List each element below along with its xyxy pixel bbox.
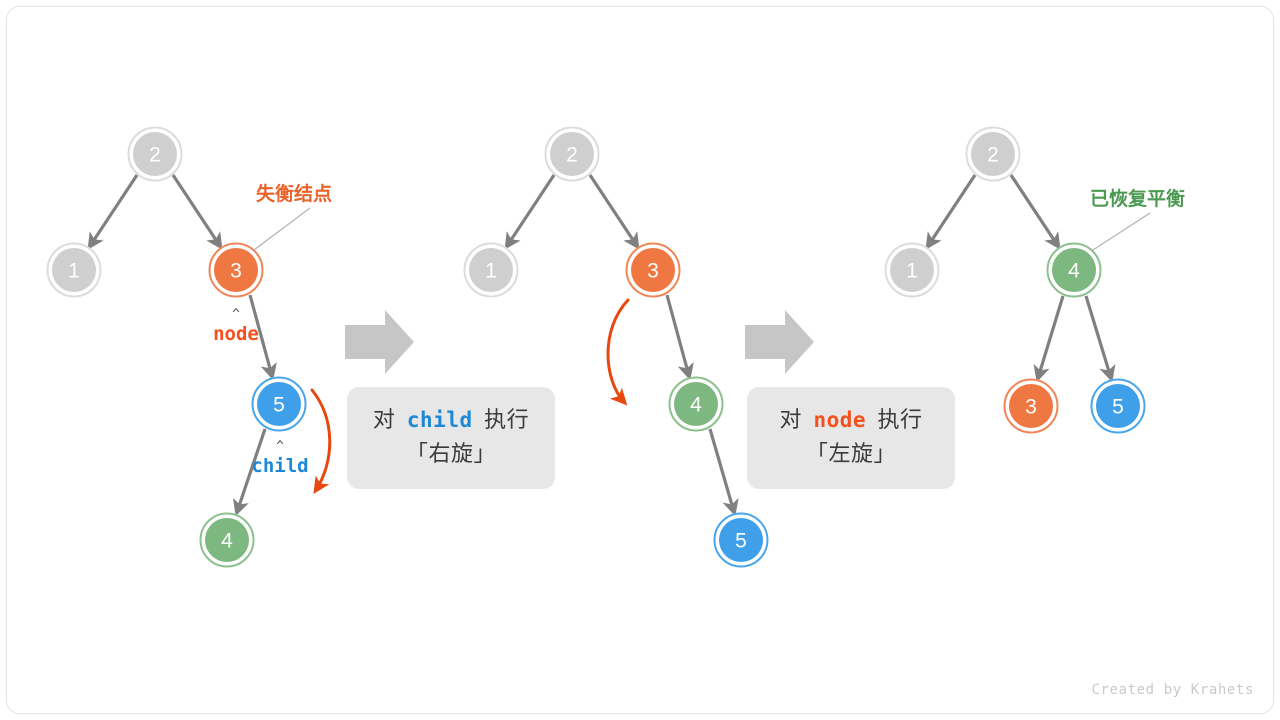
balanced-annotation: 已恢复平衡 — [1090, 187, 1185, 210]
node-value: 3 — [1025, 396, 1037, 419]
edge-2-to-4 — [1011, 175, 1058, 246]
callout-line-2: 「左旋」 — [806, 438, 896, 472]
node-value: 3 — [230, 260, 242, 283]
node-3[interactable]: 3 — [626, 243, 681, 298]
node-4-balanced[interactable]: 4 — [1047, 243, 1102, 298]
callout-right-rotate: 对 child 执行 「右旋」 — [347, 387, 555, 489]
node-value: 4 — [1068, 260, 1080, 283]
panel-before: 2 1 3 5 — [47, 127, 333, 568]
node-1[interactable]: 1 — [464, 243, 519, 298]
callout-line-1: 对 node 执行 — [779, 404, 922, 438]
node-2[interactable]: 2 — [966, 127, 1021, 182]
node-value: 1 — [485, 260, 497, 283]
callout-line-2: 「右旋」 — [406, 438, 496, 472]
node-4[interactable]: 4 — [669, 377, 724, 432]
node-4[interactable]: 4 — [200, 513, 255, 568]
right-rotation-arrow — [312, 390, 330, 490]
node-1[interactable]: 1 — [47, 243, 102, 298]
node-3-unbalanced[interactable]: 3 — [209, 243, 264, 298]
diagram-canvas: 2 1 3 5 — [0, 0, 1280, 720]
callout-left-rotate: 对 node 执行 「左旋」 — [747, 387, 955, 489]
node-value: 5 — [735, 530, 747, 553]
node-2[interactable]: 2 — [545, 127, 600, 182]
edge-2-to-1 — [507, 175, 554, 246]
panel-middle: 2 1 3 4 — [464, 127, 769, 568]
annotation-leader-line — [254, 208, 310, 250]
annotation-leader-line — [1093, 213, 1150, 250]
node-value: 2 — [566, 144, 578, 167]
callout-prefix: 对 — [779, 408, 802, 433]
diagram-svg: 2 1 3 5 — [0, 0, 1280, 720]
node-value: 5 — [1112, 396, 1124, 419]
footer-credit: Created by Krahets — [1091, 682, 1254, 698]
node-1[interactable]: 1 — [885, 243, 940, 298]
node-value: 1 — [906, 260, 918, 283]
node-3[interactable]: 3 — [1004, 379, 1059, 434]
child-pointer-caret: ^ — [276, 439, 284, 454]
edge-2-to-1 — [90, 175, 137, 246]
edge-2-to-1 — [928, 175, 975, 246]
callout-code-node: node — [809, 408, 870, 432]
node-value: 5 — [273, 394, 285, 417]
edge-2-to-3 — [590, 175, 637, 246]
step-arrow-2 — [745, 310, 814, 374]
unbalanced-node-annotation: 失衡结点 — [256, 182, 332, 205]
step-arrow-1 — [345, 310, 414, 374]
edge-4-to-5 — [1086, 296, 1111, 378]
node-5[interactable]: 5 — [714, 513, 769, 568]
node-value: 2 — [149, 144, 161, 167]
node-value: 2 — [987, 144, 999, 167]
label-child: child — [251, 455, 308, 477]
node-pointer-caret: ^ — [232, 307, 240, 322]
node-value: 3 — [647, 260, 659, 283]
callout-line-1: 对 child 执行 — [373, 404, 529, 438]
node-value: 1 — [68, 260, 80, 283]
edge-3-to-4 — [667, 295, 689, 376]
callout-suffix: 执行 — [878, 408, 923, 433]
edge-2-to-3 — [173, 175, 220, 246]
node-5[interactable]: 5 — [1091, 379, 1146, 434]
edge-4-to-5 — [710, 429, 734, 512]
left-rotation-arrow — [608, 300, 628, 402]
callout-prefix: 对 — [373, 408, 396, 433]
node-5-child[interactable]: 5 — [252, 377, 307, 432]
node-value: 4 — [690, 394, 702, 417]
callout-suffix: 执行 — [484, 408, 529, 433]
node-2[interactable]: 2 — [128, 127, 183, 182]
node-value: 4 — [221, 530, 233, 553]
edge-4-to-3 — [1038, 296, 1063, 378]
label-node: node — [213, 323, 259, 345]
callout-code-child: child — [403, 408, 477, 432]
